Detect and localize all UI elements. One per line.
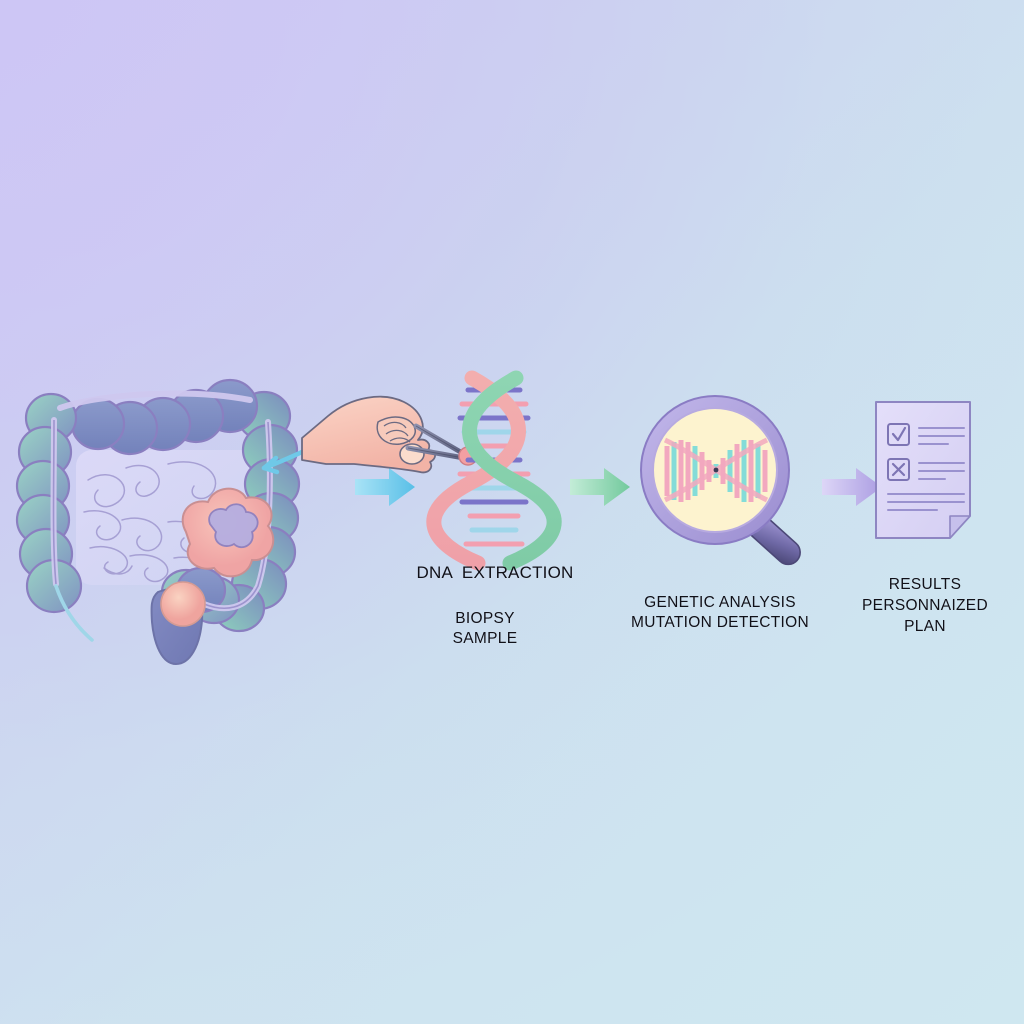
diagram-canvas: DNA EXTRACTION BIOPSY SAMPLE GENETIC ANA…	[0, 0, 1024, 1024]
label-results-line1: RESULTS	[860, 574, 990, 596]
dna-double-helix-icon	[424, 378, 564, 563]
page-fold	[950, 516, 970, 538]
label-biopsy-line1: BIOPSY	[425, 608, 545, 630]
label-analysis-line2: MUTATION DETECTION	[625, 612, 815, 634]
magnifying-glass-dna-icon	[633, 392, 833, 572]
label-biopsy-line2: SAMPLE	[425, 628, 545, 650]
label-dna-extraction: DNA EXTRACTION	[400, 561, 590, 585]
rectum-icon	[152, 582, 205, 664]
label-analysis-line1: GENETIC ANALYSIS	[625, 592, 815, 614]
colon-anatomy-icon	[18, 372, 348, 682]
report-document-icon	[872, 398, 982, 543]
arrow-2-dna-to-analysis	[570, 466, 632, 508]
label-results-line3: PLAN	[860, 616, 990, 638]
label-results-line2: PERSONNAIZED	[860, 595, 990, 617]
